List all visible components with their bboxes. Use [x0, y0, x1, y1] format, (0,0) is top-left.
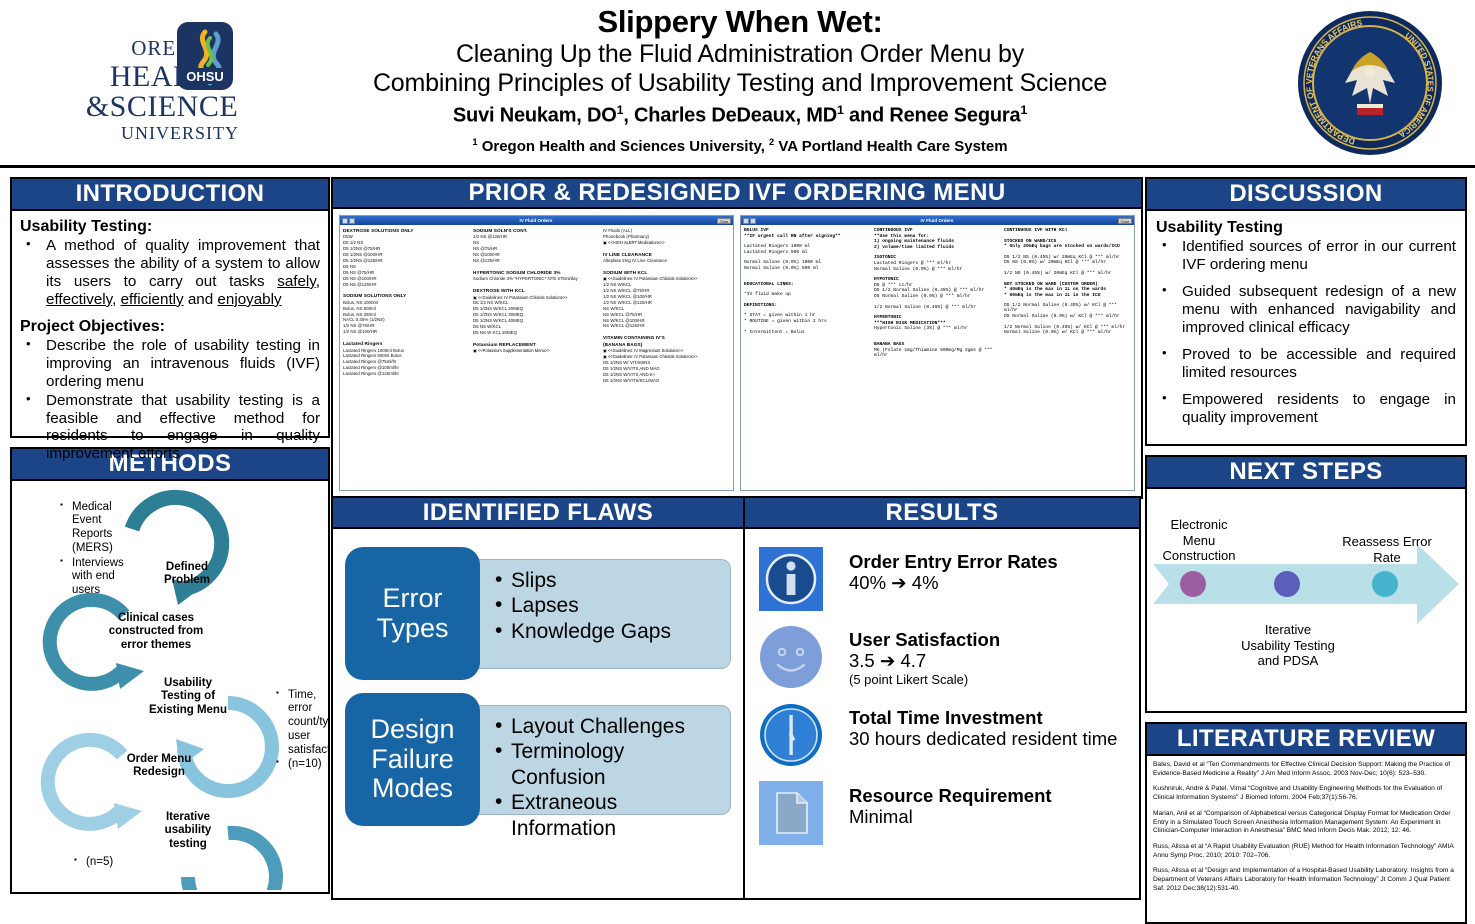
poster-title: Slippery When Wet:: [300, 5, 1180, 40]
menu-order-item[interactable]: Sodium Chloride 3% *HYPERTONIC* NTE 675m…: [473, 276, 600, 281]
methods-step-usability-testing: Usability Testing of Existing Menu: [146, 677, 230, 717]
menu-link-item[interactable]: <<Guidelines: IV Magnesium Solutions>>: [603, 348, 730, 353]
project-objectives-list: Describe the role of usability testing i…: [22, 337, 320, 464]
section-header-results: RESULTS: [743, 496, 1141, 529]
menu-order-item[interactable]: *IV fluid make up: [744, 292, 871, 297]
window-controls[interactable]: [743, 218, 756, 224]
reference-item: Russ, Alissa et al “Design and Implement…: [1153, 867, 1459, 893]
result-title: Resource Requirement: [849, 785, 1052, 806]
affiliation-1: Oregon Health and Sciences University,: [478, 138, 769, 155]
menu-order-item[interactable]: D5 1/2NS @125/HR: [343, 258, 470, 263]
list-item: Extraneous Information: [495, 790, 720, 841]
prior-window-title: IV Fluid Orders: [355, 218, 717, 223]
poster-subtitle-line1: Cleaning Up the Fluid Administration Ord…: [300, 40, 1180, 70]
result-text: User Satisfaction 3.5 ➔ 4.7 (5 point Lik…: [849, 625, 1000, 688]
reference-item: Marian, Anil et al “Comparison of Alphab…: [1153, 810, 1459, 836]
menu-link-item[interactable]: <<Potassium Supplementation Menu>>: [473, 348, 600, 353]
menu-order-item[interactable]: Lactated Ringers @100ml/hr: [343, 365, 470, 370]
flaw-row-design-failure-modes: Design Failure Modes Layout Challenges T…: [345, 693, 731, 826]
flaw-row-error-types: Error Types Slips Lapses Knowledge Gaps: [345, 547, 731, 680]
section-header-discussion: DISCUSSION: [1145, 177, 1467, 211]
smiley-icon: [759, 625, 823, 689]
menu-order-item[interactable]: D5 NS @100/HR: [343, 276, 470, 281]
author-1: Suvi Neukam, DO: [453, 104, 617, 126]
reference-item: Bates, David et al “Ten Commandments for…: [1153, 761, 1459, 778]
document-icon: [759, 781, 823, 845]
menu-group-heading[interactable]: STOCKED ON WARD/ICU: [1004, 239, 1131, 244]
underline-efficiently: efficiently: [121, 291, 184, 308]
clock-icon: [759, 703, 823, 767]
results-body: Order Entry Error Rates 40% ➔ 4% User Sa…: [743, 529, 1141, 900]
redesigned-window-title: IV Fluid Orders: [756, 218, 1118, 223]
menu-order-item[interactable]: 1/2 NS W/KCL @100/HR: [603, 294, 730, 299]
result-text: Total Time Investment 30 hours dedicated…: [849, 703, 1117, 750]
result-row-error-rates: Order Entry Error Rates 40% ➔ 4%: [759, 547, 1129, 611]
menu-group-heading[interactable]: * 60mEq is the max in 1L in the ICU: [1004, 293, 1131, 298]
reference-item: Russ, Alissa et al “A Rapid Usability Ev…: [1153, 843, 1459, 860]
next-step-label-3: Reassess Error Rate: [1339, 534, 1435, 565]
result-value: Minimal: [849, 806, 1052, 828]
menu-order-item[interactable]: 1/2 NS W/KCL: [603, 282, 730, 287]
list-item: Lapses: [495, 593, 720, 619]
svg-text:&SCIENCE: &SCIENCE: [86, 90, 238, 123]
list-item: Time, error count/type, user satisfactio…: [276, 689, 326, 758]
menu-group-heading[interactable]: ***HIGH RISK MEDICATION***: [874, 321, 1001, 326]
menu-group-heading[interactable]: DEXTROSE SOLUTIONS ONLY: [343, 228, 470, 233]
menu-order-item[interactable]: D5W: [343, 234, 470, 239]
literature-review-body: Bates, David et al “Ten Commandments for…: [1145, 756, 1467, 924]
menu-order-item[interactable]: Hypertonic Saline (3%) @ *** ml/hr: [874, 326, 1001, 331]
methods-step-menu-redesign: Order Menu Redesign: [110, 753, 208, 780]
list-item: A method of quality improvement that ass…: [22, 237, 320, 309]
menu-order-item[interactable]: D5 1/2NS W/KCL 20MEQ: [473, 306, 600, 311]
window-back-icon[interactable]: [342, 218, 348, 224]
list-item: Proved to be accessible and required lim…: [1158, 346, 1456, 382]
results-section: RESULTS Order Entry Error Rates 40% ➔ 4%: [743, 496, 1141, 900]
menu-order-item[interactable]: 1/2 NS (0.45%) w/ 20mEq KCl @ *** ml/hr: [1004, 271, 1131, 276]
author-3: and Renee Segura: [844, 104, 1021, 126]
milestone-dot-2: [1274, 571, 1300, 597]
result-title: User Satisfaction: [849, 629, 1000, 650]
menu-order-item[interactable]: D5 1/2 NS: [343, 240, 470, 245]
menu-group-heading[interactable]: HYPOTONIC: [874, 277, 1001, 282]
methods-body: Medical Event Reports (MERS) Interviews …: [10, 481, 330, 894]
menu-link-item[interactable]: <<Guidelines: IV Potassium Chloride Solu…: [603, 354, 730, 359]
menu-link-item[interactable]: <<Guidelines: IV Potassium Chloride Solu…: [473, 295, 600, 300]
menu-order-item[interactable]: D5 1/2NS W/KCL 40MEQ: [473, 318, 600, 323]
result-title: Total Time Investment: [849, 707, 1117, 728]
menu-group-heading[interactable]: 1) ongoing maintenance fluids: [874, 239, 1001, 244]
menu-group-heading[interactable]: SODIUM SOLUTIONS ONLY: [343, 293, 470, 298]
menu-order-item[interactable]: Bolus, NS 500ml: [343, 306, 470, 311]
list-item: Slips: [495, 568, 720, 594]
menu-order-item[interactable]: * STAT = given within 1 hr: [744, 313, 871, 318]
milestone-dot-1: [1180, 571, 1206, 597]
redesigned-menu-content: BOLUS IVF**IF urgent call RN after signi…: [741, 225, 1134, 490]
menu-order-item[interactable]: 1/2 Normal Saline (0.45%) @ *** ml/hr: [874, 305, 1001, 310]
prior-menu-column-1[interactable]: DEXTROSE SOLUTIONS ONLYD5WD5 1/2 NSD5 1/…: [343, 228, 470, 487]
affiliations: 1 Oregon Health and Sciences University,…: [300, 137, 1180, 155]
menu-order-item[interactable]: 1/2 NS @100/HR: [343, 329, 470, 334]
result-row-time-investment: Total Time Investment 30 hours dedicated…: [759, 703, 1129, 767]
menu-group-heading[interactable]: SODIUM WITH KCL: [603, 270, 730, 275]
underline-effectively: effectively: [46, 291, 112, 308]
redesigned-menu-column-2[interactable]: CONTINUOUS IVF**Use this menu for:1) ong…: [874, 228, 1001, 487]
flaw-items-panel: Slips Lapses Knowledge Gaps: [470, 559, 731, 669]
menu-group-heading[interactable]: HYPERTONIC: [874, 315, 1001, 320]
menu-group-heading[interactable]: DEXTROSE WITH KCL: [473, 288, 600, 293]
menu-order-item[interactable]: NACL 0.45% (1/2NS): [343, 317, 470, 322]
window-controls[interactable]: [342, 218, 355, 224]
menu-order-item[interactable]: Normal Saline (0.9%) 1000 ml: [744, 260, 871, 265]
menu-order-item[interactable]: D5 NS W/KCL: [473, 324, 600, 329]
menu-order-item[interactable]: D5 1/2NS @75/HR: [343, 246, 470, 251]
svg-text:UNIVERSITY: UNIVERSITY: [121, 123, 239, 143]
menu-order-item[interactable]: Phonebook (Pharmacy): [603, 234, 730, 239]
menu-order-item[interactable]: 1/2 NS @75/HR: [343, 323, 470, 328]
menu-order-item[interactable]: Lactated Ringers @125ml/hr: [343, 371, 470, 376]
menu-link-item[interactable]: <<Guidelines: IV Potassium Chloride Solu…: [603, 276, 730, 281]
prior-close-button[interactable]: Close: [717, 218, 731, 224]
window-back-icon[interactable]: [743, 218, 749, 224]
list-item: (n=5): [74, 856, 124, 870]
menu-group-heading[interactable]: * Only 20mEq bags are stocked on wards/I…: [1004, 244, 1131, 249]
list-item: Layout Challenges: [495, 714, 720, 740]
result-value: 40% ➔ 4%: [849, 572, 1058, 594]
section-header-literature-review: LITERATURE REVIEW: [1145, 722, 1467, 756]
menu-order-item[interactable]: D5 1/2NS W/ VITAMINS: [603, 360, 730, 365]
prior-menu-titlebar: IV Fluid Orders Close: [340, 216, 733, 225]
menu-order-item[interactable]: D5 Normal Saline (0.9%) w/ KCl @ *** ml/…: [1004, 314, 1131, 319]
methods-note-bottom: (n=5): [34, 856, 124, 871]
result-row-user-satisfaction: User Satisfaction 3.5 ➔ 4.7 (5 point Lik…: [759, 625, 1129, 689]
methods-step-defined-problem: Defined Problem: [142, 561, 232, 588]
methods-note-top: Medical Event Reports (MERS) Interviews …: [20, 501, 138, 600]
usability-testing-list: A method of quality improvement that ass…: [22, 237, 320, 309]
redesigned-menu-screenshot: IV Fluid Orders Close BOLUS IVF**IF urge…: [740, 215, 1135, 491]
list-item: Describe the role of usability testing i…: [22, 337, 320, 391]
flaw-category-label: Design Failure Modes: [345, 693, 480, 826]
menu-order-item[interactable]: D5 1/2NS @100/HR: [343, 252, 470, 257]
menu-order-item[interactable]: D5 NS W KCL 20MEQ: [473, 330, 600, 335]
next-step-label-2: Iterative Usability Testing and PDSA: [1240, 622, 1336, 669]
menu-group-heading[interactable]: BOLUS IVF: [744, 228, 871, 233]
list-item: Terminology Confusion: [495, 739, 720, 790]
list-item: Medical Event Reports (MERS): [60, 501, 138, 556]
menu-group-heading[interactable]: * 40mEq is the max in 1L on the wards: [1004, 287, 1131, 292]
menu-order-item[interactable]: Lactated Ringers 1000ml Bolus: [343, 348, 470, 353]
menu-order-item[interactable]: D5 1/2 Normal Saline (0.45%) w/ KCl @ **…: [1004, 303, 1131, 313]
redesigned-menu-column-3[interactable]: CONTINUOUS IVF WITH KClSTOCKED ON WARD/I…: [1004, 228, 1131, 487]
menu-group-heading[interactable]: **IF urgent call RN after signing**: [744, 234, 871, 239]
result-note: (5 point Likert Scale): [849, 672, 1000, 688]
right-column: DISCUSSION Usability Testing Identified …: [1145, 177, 1467, 924]
menu-order-item[interactable]: Lactated Ringers 1000 ml: [744, 244, 871, 249]
menu-group-heading[interactable]: Potassium REPLACEMENT: [473, 342, 600, 347]
next-step-label-1: Electronic Menu Construction: [1153, 517, 1245, 564]
menu-group-heading[interactable]: ISOTONIC: [874, 255, 1001, 260]
center-column: PRIOR & REDESIGNED IVF ORDERING MENU IV …: [331, 177, 1143, 499]
result-text: Resource Requirement Minimal: [849, 781, 1052, 828]
poster-header: OREGON HEALTH &SCIENCE UNIVERSITY OHSU D…: [0, 0, 1475, 168]
usability-testing-title: Usability Testing:: [20, 218, 320, 236]
menu-order-item[interactable]: NS: [473, 240, 600, 245]
discussion-body: Usability Testing Identified sources of …: [1145, 211, 1467, 446]
result-value: 30 hours dedicated resident time: [849, 728, 1117, 750]
menu-group-heading[interactable]: Lactated Ringers: [343, 341, 470, 346]
prior-menu-screenshot: IV Fluid Orders Close DEXTROSE SOLUTIONS…: [339, 215, 734, 491]
methods-note-middle: Time, error count/type, user satisfactio…: [236, 689, 326, 774]
menu-group-heading[interactable]: EDUCATIONAL LINKS:: [744, 282, 871, 287]
methods-step-iterative-testing: Iterative usability testing: [146, 811, 230, 851]
menu-group-heading[interactable]: SODIUM SOLN'S CONT.: [473, 228, 600, 233]
menu-order-item[interactable]: NS @125/HR: [473, 258, 600, 263]
menu-order-item[interactable]: D5 1/2NS W/VITS AND K+: [603, 372, 730, 377]
affiliation-2: VA Portland Health Care System: [774, 138, 1007, 155]
discussion-list: Identified sources of error in our curre…: [1158, 238, 1456, 426]
section-header-menus: PRIOR & REDESIGNED IVF ORDERING MENU: [331, 177, 1143, 209]
next-steps-body: Electronic Menu Construction Iterative U…: [1145, 489, 1467, 713]
menu-group-heading[interactable]: NOT STOCKED ON WARD (CUSTOM ORDER): [1004, 282, 1131, 287]
discussion-block-title: Usability Testing: [1156, 219, 1456, 237]
list-item: Identified sources of error in our curre…: [1158, 238, 1456, 274]
menu-order-item[interactable]: * Intermittent = Bolus: [744, 330, 871, 335]
methods-step-clinical-cases: Clinical cases constructed from error th…: [106, 612, 206, 652]
prior-menu-content: DEXTROSE SOLUTIONS ONLYD5WD5 1/2 NSD5 1/…: [340, 225, 733, 490]
menu-order-item[interactable]: Normal Saline (0.9%) w/ KCl @ *** ml/hr: [1004, 330, 1131, 335]
menu-order-item[interactable]: Lactated Ringers 500ml Bolus: [343, 353, 470, 358]
project-objectives-title: Project Objectives:: [20, 318, 320, 336]
menu-order-item[interactable]: D5 1/2NS W/VITS AND MAG: [603, 366, 730, 371]
menu-order-item[interactable]: Normal Saline (0.9%) @ *** ml/hr: [874, 267, 1001, 272]
menu-group-heading[interactable]: VITAMIN CONTAINING IV'S: [603, 335, 730, 340]
section-header-introduction: INTRODUCTION: [10, 177, 330, 211]
redesigned-menu-column-1[interactable]: BOLUS IVF**IF urgent call RN after signi…: [744, 228, 871, 487]
menu-order-item[interactable]: D5 1/2NS W/VITS/KCL/MAG: [603, 378, 730, 383]
author-2: , Charles DeDeaux, MD: [623, 104, 837, 126]
menu-order-item[interactable]: D5 NS: [343, 264, 470, 269]
menu-order-item[interactable]: * ROUTINE = given within 2 hrs: [744, 319, 871, 324]
menu-order-item[interactable]: Bolus, NS 250ml: [343, 312, 470, 317]
menu-order-item[interactable]: Bolus, NS 1000ml: [343, 300, 470, 305]
identified-flaws-body: Error Types Slips Lapses Knowledge Gaps …: [331, 529, 745, 900]
flaw-items-list: Slips Lapses Knowledge Gaps: [495, 568, 720, 645]
menu-group-heading[interactable]: **Use this menu for:: [874, 234, 1001, 239]
menu-order-item[interactable]: D5 Normal Saline (0.9%) @ *** ml/hr: [874, 294, 1001, 299]
result-value: 3.5 ➔ 4.7: [849, 650, 1000, 672]
prior-menu-column-3[interactable]: IV Fluids (ALL)Phonebook (Pharmacy)<<HIG…: [603, 228, 730, 487]
menu-group-heading[interactable]: CONTINUOUS IVF: [874, 228, 1001, 233]
menu-order-item[interactable]: NS @75/HR: [473, 246, 600, 251]
result-row-resource-requirement: Resource Requirement Minimal: [759, 781, 1129, 845]
underline-enjoyably: enjoyably: [217, 291, 281, 308]
list-item: Demonstrate that usability testing is a …: [22, 392, 320, 464]
menu-group-heading[interactable]: HYPERTONIC SODIUM CHLORIDE 3%: [473, 270, 600, 275]
menu-order-item[interactable]: 1/2 NS @125/HR: [473, 234, 600, 239]
menu-group-heading[interactable]: 2) volume/time limited fluids: [874, 245, 1001, 250]
redesigned-menu-titlebar: IV Fluid Orders Close: [741, 216, 1134, 225]
menu-order-item[interactable]: MG (Folate 1mg/Thiamine 500mg/Mg 2gms @ …: [874, 348, 1001, 358]
menus-body: IV Fluid Orders Close DEXTROSE SOLUTIONS…: [331, 209, 1143, 499]
list-item: Empowered residents to engage in quality…: [1158, 391, 1456, 427]
introduction-body: Usability Testing: A method of quality i…: [10, 211, 330, 438]
menu-order-item[interactable]: Normal Saline (0.9%) 500 ml: [744, 266, 871, 271]
left-column: INTRODUCTION Usability Testing: A method…: [10, 177, 330, 894]
reference-item: Kushniruk, Andre & Patel, Vimal “Cogniti…: [1153, 785, 1459, 802]
menu-order-item[interactable]: NS W/KCL @100/HR: [603, 318, 730, 323]
menu-order-item[interactable]: Lactated Ringers @ *** ml/hr: [874, 261, 1001, 266]
menu-order-item[interactable]: IV Fluids (ALL): [603, 228, 730, 233]
menu-group-heading[interactable]: IV LINE CLEARANCE: [603, 252, 730, 257]
list-item: Interviews with end users: [60, 557, 138, 598]
flaw-items-panel: Layout Challenges Terminology Confusion …: [470, 705, 731, 815]
menu-order-item[interactable]: 1/2 NS W/KCL @75/HR: [603, 288, 730, 293]
identified-flaws-section: IDENTIFIED FLAWS Error Types Slips Lapse…: [331, 496, 745, 900]
underline-safely: safely: [277, 273, 316, 290]
menu-order-item[interactable]: D5 NS (0.9%) w/ 20mEq KCl @ *** ml/hr: [1004, 260, 1131, 265]
svg-text:OHSU: OHSU: [186, 69, 224, 84]
redesigned-close-button[interactable]: Close: [1118, 218, 1132, 224]
result-title: Order Entry Error Rates: [849, 551, 1058, 572]
milestone-dot-3: [1372, 571, 1398, 597]
authors: Suvi Neukam, DO1, Charles DeDeaux, MD1 a…: [300, 103, 1180, 128]
menu-order-item[interactable]: D5 1/2 NS W/KCL: [473, 300, 600, 305]
list-item: Guided subsequent redesign of a new menu…: [1158, 283, 1456, 337]
menu-order-item[interactable]: D5 NS @125/HR: [343, 282, 470, 287]
flaw-items-list: Layout Challenges Terminology Confusion …: [495, 714, 720, 842]
menu-order-item[interactable]: Lactated Ringers @75ml/hr: [343, 359, 470, 364]
menu-order-item[interactable]: NS @100/HR: [473, 252, 600, 257]
list-item: (n=10): [276, 758, 326, 772]
menu-order-item[interactable]: 1/2 Normal Saline (0.45%) w/ KCl @ *** m…: [1004, 325, 1131, 330]
menu-group-heading[interactable]: CONTINUOUS IVF WITH KCl: [1004, 228, 1131, 233]
menu-order-item[interactable]: D5 NS @75/HR: [343, 270, 470, 275]
menu-group-heading[interactable]: DEFINITIONS:: [744, 303, 871, 308]
menu-order-item[interactable]: D5 @ *** cc/hr: [874, 283, 1001, 288]
menu-order-item[interactable]: NS W/KCL @75/HR: [603, 312, 730, 317]
flaw-category-label: Error Types: [345, 547, 480, 680]
menu-order-item[interactable]: NS W/KCL: [603, 306, 730, 311]
lower-center-row: IDENTIFIED FLAWS Error Types Slips Lapse…: [331, 496, 1143, 900]
menu-order-item[interactable]: D5 1/2 Normal Saline (0.45%) @ *** ml/hr: [874, 288, 1001, 293]
menu-order-item[interactable]: Alteplase 2mg IV Line Clearance: [603, 258, 730, 263]
result-text: Order Entry Error Rates 40% ➔ 4%: [849, 547, 1058, 594]
menu-link-item[interactable]: <<HIGH ALERT Medications>>: [603, 240, 730, 245]
menu-order-item[interactable]: NS W/KCL @125/HR: [603, 323, 730, 328]
title-block: Slippery When Wet: Cleaning Up the Fluid…: [300, 5, 1180, 155]
section-header-next-steps: NEXT STEPS: [1145, 455, 1467, 489]
section-header-identified-flaws: IDENTIFIED FLAWS: [331, 496, 745, 529]
menu-group-heading[interactable]: BANANA BAGS: [874, 342, 1001, 347]
va-seal-logo: DEPARTMENT OF VETERANS AFFAIRS UNITED ST…: [1295, 8, 1445, 158]
menu-order-item[interactable]: 1/2 NS W/KCL @125/HR: [603, 300, 730, 305]
menu-group-heading[interactable]: (BANANA BAGS): [603, 342, 730, 347]
info-icon: [759, 547, 823, 611]
list-item: Knowledge Gaps: [495, 619, 720, 645]
menu-order-item[interactable]: D5 1/2NS W/KCL 30MEQ: [473, 312, 600, 317]
poster-subtitle-line2: Combining Principles of Usability Testin…: [300, 69, 1180, 99]
menu-order-item[interactable]: Lactated Ringers 500 ml: [744, 250, 871, 255]
ohsu-logo: OREGON HEALTH &SCIENCE UNIVERSITY OHSU: [60, 10, 260, 160]
prior-menu-column-2[interactable]: SODIUM SOLN'S CONT.1/2 NS @125/HRNSNS @7…: [473, 228, 600, 487]
